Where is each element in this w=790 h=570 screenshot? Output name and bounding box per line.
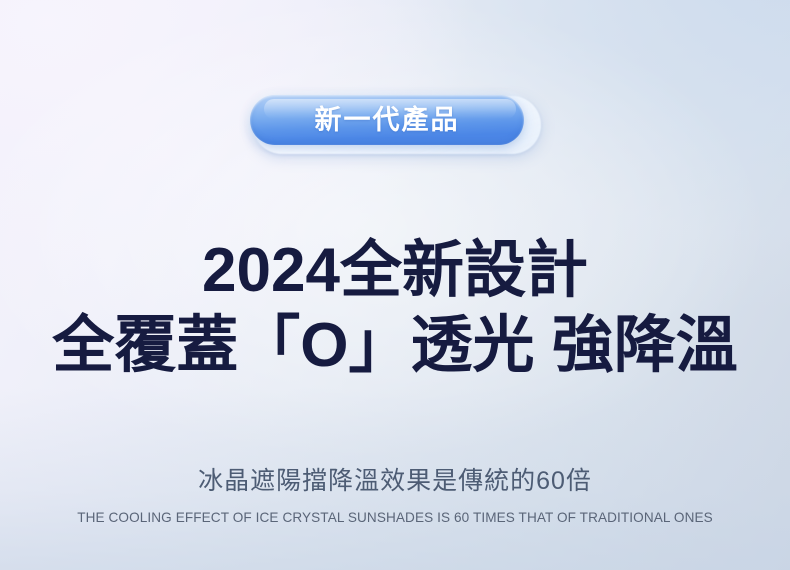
subtitle-chinese: 冰晶遮陽擋降溫效果是傳統的60倍	[0, 466, 790, 496]
banner-content: 新一代產品 2024全新設計 全覆蓋「O」透光 強降溫 冰晶遮陽擋降溫效果是傳統…	[0, 0, 790, 570]
subtitle-english: THE COOLING EFFECT OF ICE CRYSTAL SUNSHA…	[12, 509, 778, 526]
headline-line-2: 全覆蓋「O」透光 強降溫	[0, 311, 790, 380]
promo-banner: 新一代產品 2024全新設計 全覆蓋「O」透光 強降溫 冰晶遮陽擋降溫效果是傳統…	[0, 0, 790, 570]
badge-label: 新一代產品	[315, 107, 460, 134]
new-generation-badge[interactable]: 新一代產品	[247, 92, 543, 158]
headline-block: 2024全新設計 全覆蓋「O」透光 強降溫	[0, 236, 790, 381]
badge-pill[interactable]: 新一代產品	[250, 95, 524, 145]
headline-line-1: 2024全新設計	[0, 236, 790, 305]
